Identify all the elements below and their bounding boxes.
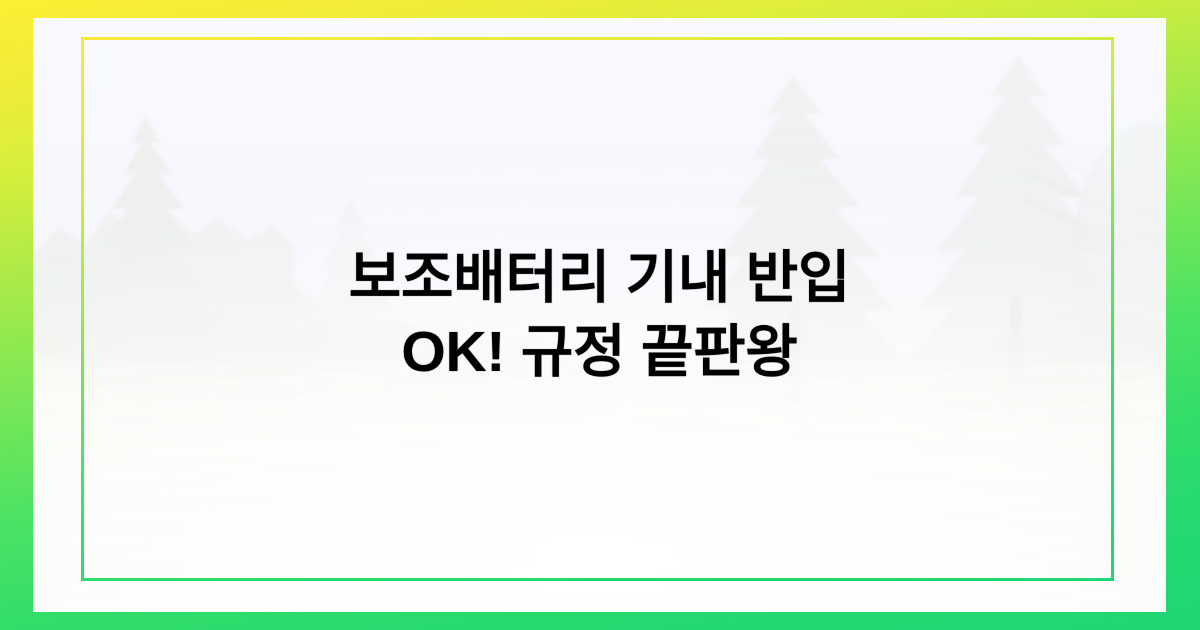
headline-line-1: 보조배터리 기내 반입 [61,241,1138,315]
headline-line-2: OK! 규정 끝판왕 [61,315,1138,389]
thumbnail-canvas: 보조배터리 기내 반입 OK! 규정 끝판왕 [0,0,1200,630]
headline: 보조배터리 기내 반입 OK! 규정 끝판왕 [33,241,1166,389]
photo-stage: 보조배터리 기내 반입 OK! 규정 끝판왕 [33,18,1166,612]
